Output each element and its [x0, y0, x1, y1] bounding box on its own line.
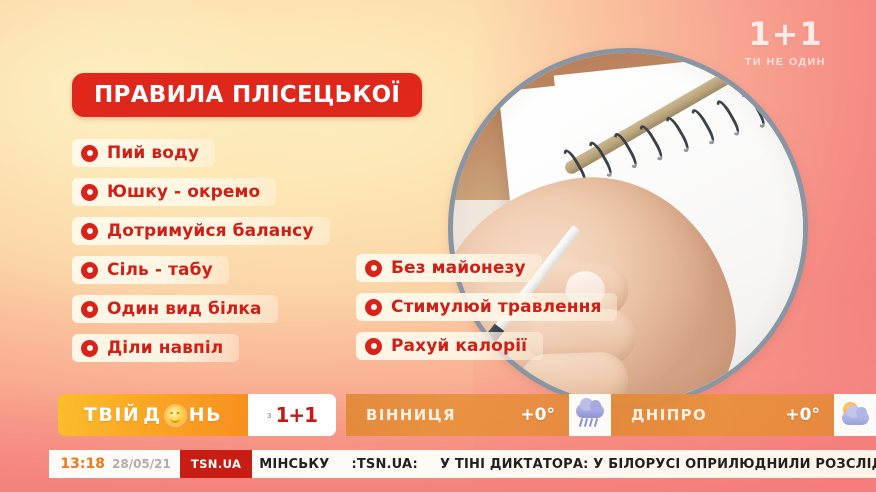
weather-bar-left-spacer — [0, 394, 58, 436]
weather-city-name: ВІННИЦЯ — [366, 406, 520, 424]
rule-item: Без майонезу — [356, 254, 542, 282]
bullet-marker-icon — [81, 223, 98, 240]
segment-title-text: ПРАВИЛА ПЛІСЕЦЬКОЇ — [94, 82, 400, 108]
rule-text: Юшку - окремо — [107, 182, 260, 202]
show-logo-word-d: Д — [143, 404, 161, 426]
broadcast-frame: 1+1 ТИ НЕ ОДИН — [0, 0, 876, 492]
weather-city-dnipro: ДНІПРО +0° — [611, 394, 834, 436]
bullet-marker-icon — [81, 262, 98, 279]
channel-logo-mark: 1+1 — [745, 18, 826, 50]
rule-text: Дотримуйся балансу — [107, 221, 314, 241]
show-logo-word-n: НЬ — [189, 404, 222, 426]
ticker-source-label: TSN.UA — [191, 457, 241, 471]
rule-text: Без майонезу — [391, 258, 526, 278]
news-ticker: 13:18 28/05/21 TSN.UA МІНСЬКУ :TSN.UA: У… — [0, 450, 876, 478]
rain-drops — [579, 418, 601, 428]
rule-text: Стимулюй травлення — [391, 297, 601, 317]
sun-behind-cloud-icon — [840, 402, 870, 428]
ticker-date: 28/05/21 — [112, 457, 171, 471]
weather-temperature: +0° — [520, 405, 555, 425]
show-logo: ТВІЙ Д НЬ — [58, 394, 248, 436]
bullet-marker-icon — [365, 338, 382, 355]
rule-item: Діли навпіл — [72, 334, 239, 362]
weather-bar-gap — [336, 394, 346, 436]
rules-list-right: Без майонезу Стимулюй травлення Рахуй ка… — [356, 254, 617, 371]
rule-item: Дотримуйся балансу — [72, 217, 330, 245]
weather-icon-container — [569, 394, 611, 436]
ticker-headline: :TSN.UA: — [351, 457, 418, 472]
ticker-headlines[interactable]: МІНСЬКУ :TSN.UA: У ТІНІ ДИКТАТОРА: У БІЛ… — [252, 450, 876, 478]
rule-item: Пий воду — [72, 139, 215, 167]
ticker-left-spacer — [0, 450, 49, 478]
rule-item: Юшку - окремо — [72, 178, 276, 206]
rule-item: Сіль - табу — [72, 256, 229, 284]
rule-text: Діли навпіл — [107, 338, 223, 358]
weather-temperature: +0° — [785, 405, 820, 425]
bullet-marker-icon — [81, 184, 98, 201]
partner-channel-mark: 1+1 — [275, 403, 317, 427]
bullet-marker-icon — [365, 299, 382, 316]
rules-list-left: Пий воду Юшку - окремо Дотримуйся баланс… — [72, 139, 330, 373]
rule-item: Стимулюй травлення — [356, 293, 617, 321]
rule-text: Пий воду — [107, 143, 199, 163]
ticker-source-badge[interactable]: TSN.UA — [180, 450, 252, 478]
rule-item: Рахуй калорії — [356, 332, 543, 360]
sun-smiley-icon — [166, 406, 185, 425]
partner-preposition: з — [267, 410, 271, 420]
rule-text: Рахуй калорії — [391, 336, 527, 356]
cloud-body — [842, 411, 869, 425]
ticker-headline: У ТІНІ ДИКТАТОРА: У БІЛОРУСІ ОПРИЛЮДНИЛИ… — [440, 457, 876, 472]
weather-city-vinnytsia: ВІННИЦЯ +0° — [346, 394, 569, 436]
bullet-marker-icon — [81, 340, 98, 357]
show-logo-word-tviy: ТВІЙ — [84, 404, 140, 426]
weather-city-name: ДНІПРО — [631, 406, 785, 424]
ticker-headline: МІНСЬКУ — [259, 457, 329, 472]
rain-cloud-icon — [575, 402, 605, 428]
rain-cloud-body — [576, 404, 604, 418]
bullet-marker-icon — [81, 145, 98, 162]
rule-text: Сіль - табу — [107, 260, 213, 280]
weather-icon-container — [834, 394, 876, 436]
partner-badge: з 1+1 — [248, 394, 336, 436]
ticker-clock: 13:18 28/05/21 — [49, 450, 179, 478]
rule-text: Один вид білка — [107, 299, 262, 319]
bullet-marker-icon — [81, 301, 98, 318]
weather-bar: ТВІЙ Д НЬ з 1+1 ВІННИЦЯ +0° ДНІПРО +0° — [0, 394, 876, 436]
ticker-time: 13:18 — [60, 456, 105, 472]
rule-item: Один вид білка — [72, 295, 278, 323]
segment-title-banner: ПРАВИЛА ПЛІСЕЦЬКОЇ — [72, 73, 422, 117]
bullet-marker-icon — [365, 260, 382, 277]
